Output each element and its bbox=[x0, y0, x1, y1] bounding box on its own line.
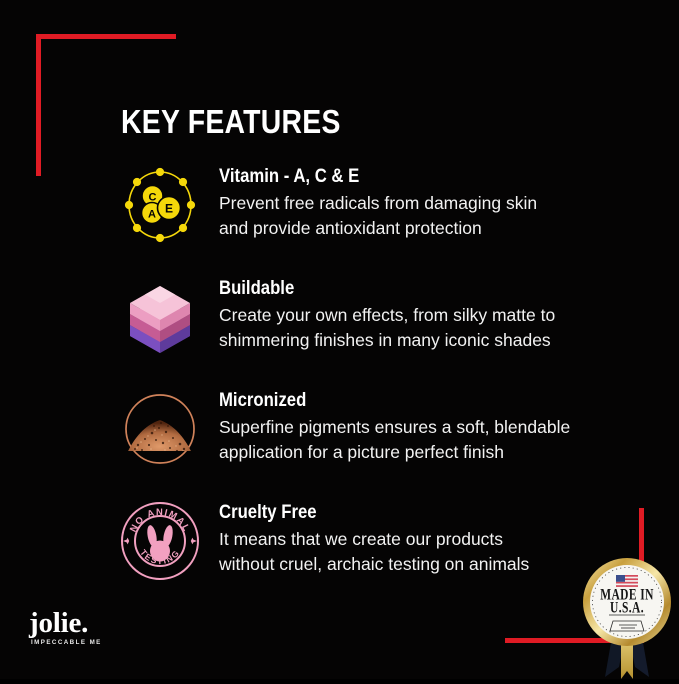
seal-line-2: U.S.A. bbox=[610, 599, 644, 616]
feature-title: Buildable bbox=[219, 277, 606, 300]
pigment-powder-icon bbox=[118, 387, 202, 471]
no-animal-testing-icon: NO ANIMAL TESTING bbox=[118, 499, 202, 583]
feature-description: Prevent free radicals from damaging skin… bbox=[219, 191, 659, 241]
feature-description-line: and provide antioxidant protection bbox=[219, 216, 659, 241]
page-title: KEY FEATURES bbox=[121, 104, 341, 140]
brand-tagline: IMPECCABLE ME bbox=[31, 639, 179, 647]
bracket-top-left-horizontal bbox=[36, 34, 176, 39]
feature-row: Buildable Create your own effects, from … bbox=[0, 275, 679, 387]
feature-text: Buildable Create your own effects, from … bbox=[219, 277, 659, 353]
svg-text:E: E bbox=[165, 202, 173, 216]
stacked-cube-icon bbox=[118, 275, 202, 359]
feature-text: Micronized Superfine pigments ensures a … bbox=[219, 389, 659, 465]
feature-description-line: Superfine pigments ensures a soft, blend… bbox=[219, 415, 659, 440]
feature-description-line: shimmering finishes in many iconic shade… bbox=[219, 328, 659, 353]
svg-text:A: A bbox=[148, 209, 156, 221]
features-list: C A E Vitamin - A, C & E Prevent free ra… bbox=[0, 163, 679, 611]
feature-description: Superfine pigments ensures a soft, blend… bbox=[219, 415, 659, 465]
feature-description-line: Create your own effects, from silky matt… bbox=[219, 303, 659, 328]
feature-description: Create your own effects, from silky matt… bbox=[219, 303, 659, 353]
feature-title: Micronized bbox=[219, 389, 606, 412]
feature-title: Vitamin - A, C & E bbox=[219, 165, 606, 188]
bracket-top-left-vertical bbox=[36, 34, 41, 176]
feature-title: Cruelty Free bbox=[219, 501, 606, 524]
feature-row: Micronized Superfine pigments ensures a … bbox=[0, 387, 679, 499]
feature-row: C A E Vitamin - A, C & E Prevent free ra… bbox=[0, 163, 679, 275]
feature-description-line: It means that we create our products bbox=[219, 527, 659, 552]
svg-text:C: C bbox=[149, 192, 157, 204]
vitamin-atom-icon: C A E bbox=[118, 163, 202, 247]
brand-name: jolie. bbox=[29, 608, 179, 638]
feature-description-line: application for a picture perfect finish bbox=[219, 440, 659, 465]
feature-text: Vitamin - A, C & E Prevent free radicals… bbox=[219, 165, 659, 241]
brand-logo: jolie. IMPECCABLE ME bbox=[29, 608, 179, 647]
made-in-usa-seal: MADE IN U.S.A. bbox=[575, 555, 679, 679]
feature-description-line: Prevent free radicals from damaging skin bbox=[219, 191, 659, 216]
